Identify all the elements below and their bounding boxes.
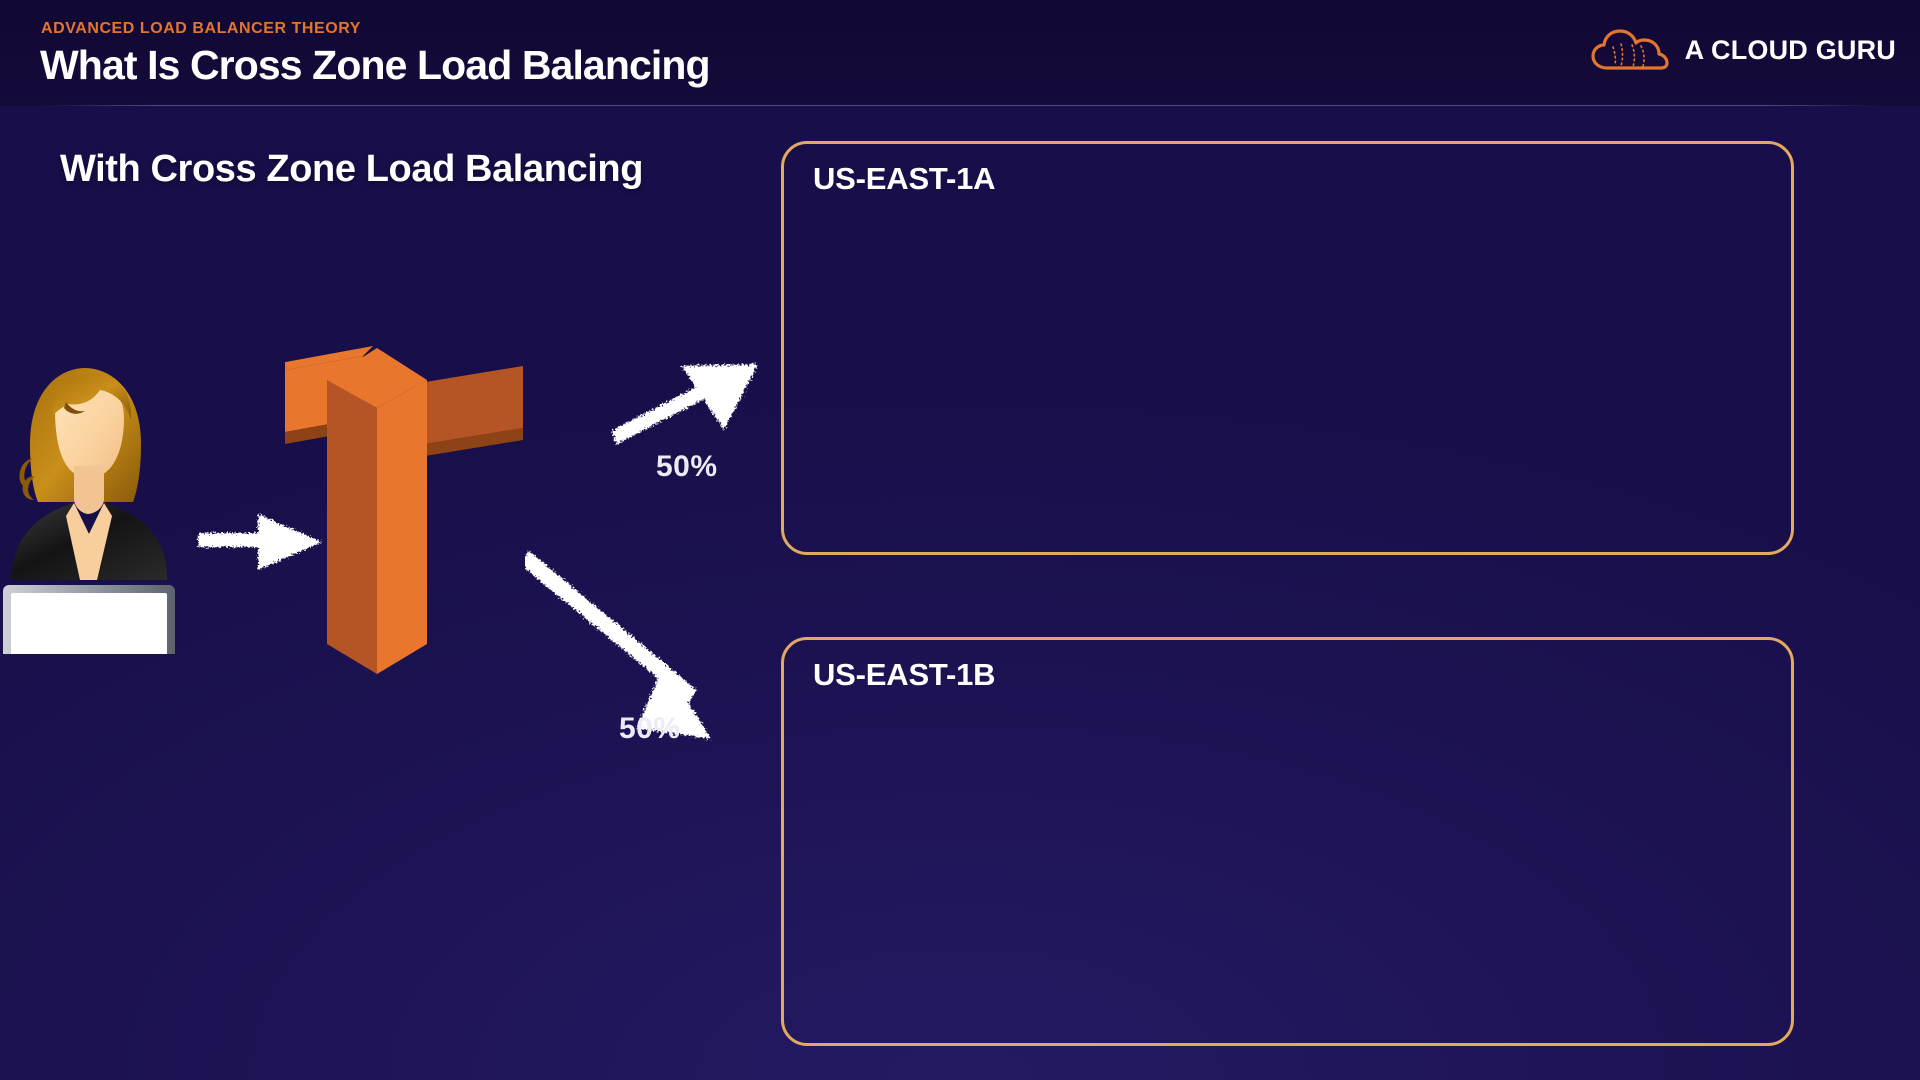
person-with-laptop-icon — [0, 348, 200, 654]
brand-logo-text: A CLOUD GURU — [1685, 35, 1896, 66]
traffic-percent-us-east-1b: 50% — [619, 712, 681, 746]
arrow-load-balancer-to-us-east-1a-icon — [608, 348, 783, 464]
traffic-percent-us-east-1a: 50% — [656, 450, 718, 484]
arrow-load-balancer-to-us-east-1b-icon — [525, 548, 785, 782]
page-header: ADVANCED LOAD BALANCER THEORY What Is Cr… — [0, 0, 1920, 106]
page-title: What Is Cross Zone Load Balancing — [40, 42, 710, 89]
cloud-icon-svg — [1591, 28, 1669, 72]
cloud-icon — [1591, 28, 1669, 72]
availability-zone-box-us-east-1a: US-EAST-1A — [781, 141, 1794, 555]
header-divider — [40, 105, 1880, 106]
availability-zone-label: US-EAST-1B — [813, 657, 995, 693]
brand-logo: A CLOUD GURU — [1591, 28, 1896, 72]
availability-zone-box-us-east-1b: US-EAST-1B — [781, 637, 1794, 1046]
header-eyebrow: ADVANCED LOAD BALANCER THEORY — [41, 20, 361, 38]
availability-zone-label: US-EAST-1A — [813, 161, 995, 197]
slide-subtitle: With Cross Zone Load Balancing — [60, 148, 643, 191]
user-illustration — [0, 348, 200, 654]
arrow-user-to-load-balancer-icon — [196, 508, 328, 576]
